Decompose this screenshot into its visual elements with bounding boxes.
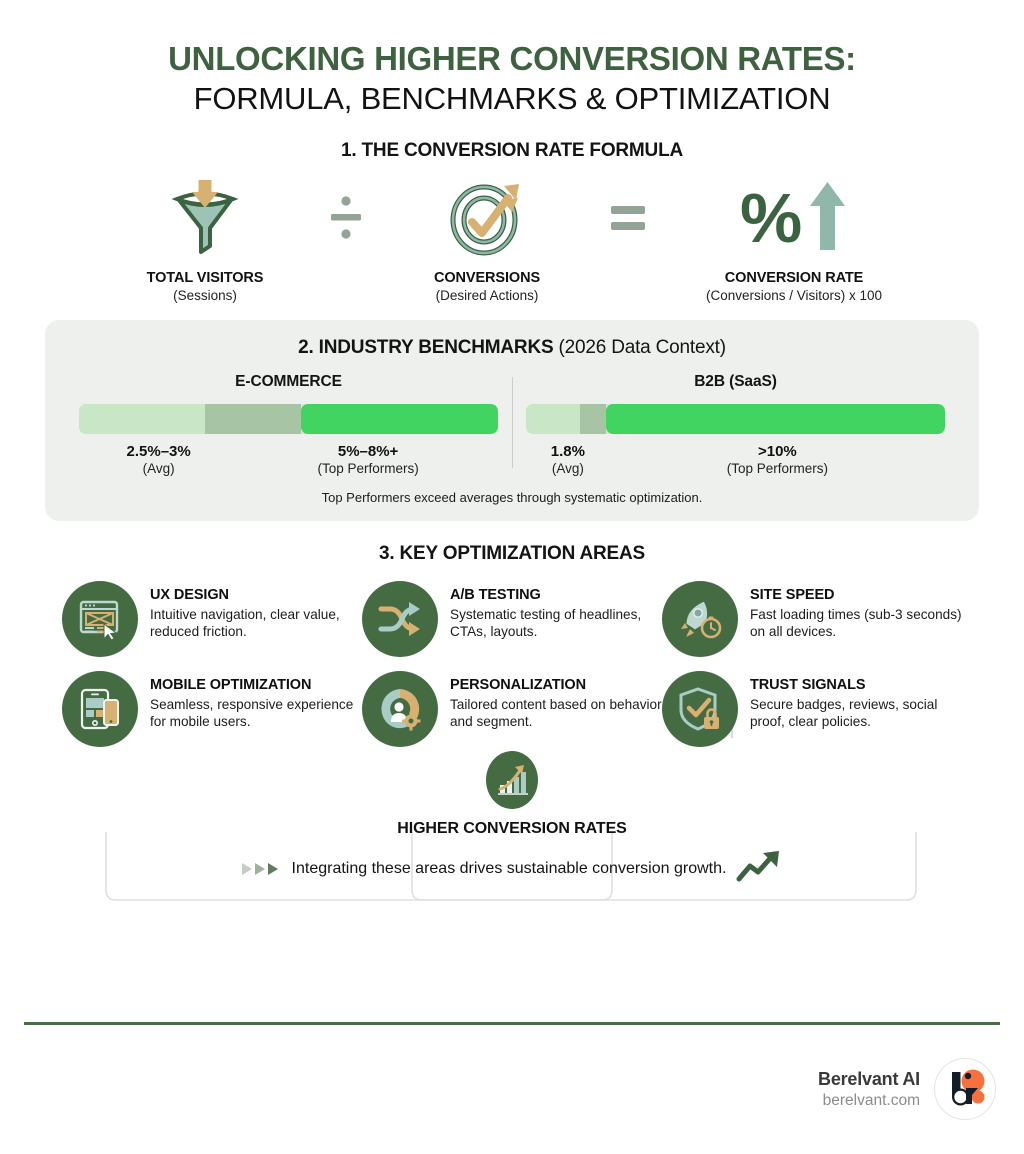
- benchmark-title: B2B (SaaS): [526, 373, 945, 391]
- triple-chevron-icon: [241, 862, 283, 876]
- benchmark-labels: 2.5%–3% (Avg) 5%–8%+ (Top Performers): [79, 443, 498, 476]
- benchmark-labels: 1.8% (Avg) >10% (Top Performers): [526, 443, 945, 476]
- footer-brand: Berelvant AI berelvant.com: [818, 1058, 996, 1120]
- optimization-desc: Seamless, responsive experience for mobi…: [150, 696, 362, 730]
- formula-label: CONVERSIONS: [382, 270, 592, 286]
- bar-segment-light: [526, 404, 580, 434]
- benchmark-footnote: Top Performers exceed averages through s…: [65, 490, 959, 505]
- benchmark-top-label: (Top Performers): [610, 461, 945, 476]
- formula-item-visitors: TOTAL VISITORS (Sessions): [100, 178, 310, 303]
- bar-segment-mid: [205, 404, 301, 434]
- outcome-block: HIGHER CONVERSION RATES Integrating thes…: [0, 751, 1024, 889]
- optimization-item-ab-testing[interactable]: A/B TESTING Systematic testing of headli…: [362, 581, 662, 657]
- formula-label: CONVERSION RATE: [664, 270, 924, 286]
- benchmark-title: E-COMMERCE: [79, 373, 498, 391]
- optimization-text: PERSONALIZATION Tailored content based o…: [450, 671, 662, 730]
- benchmarks-panel: 2. INDUSTRY BENCHMARKS (2026 Data Contex…: [45, 320, 979, 521]
- target-icon: [382, 178, 592, 258]
- optimization-text: A/B TESTING Systematic testing of headli…: [450, 581, 662, 640]
- funnel-icon: [100, 178, 310, 258]
- benchmark-top-value: >10%: [610, 443, 945, 460]
- bar-segment-light: [79, 404, 205, 434]
- berelvant-logo-icon: [934, 1058, 996, 1120]
- optimization-title: A/B TESTING: [450, 587, 662, 604]
- benchmark-bar-ecommerce: [79, 404, 498, 434]
- benchmark-avg: 2.5%–3% (Avg): [79, 443, 238, 476]
- section-3-heading-wrap: 3. KEY OPTIMIZATION AREAS: [0, 543, 1024, 565]
- section-2-heading-light: (2026 Data Context): [559, 337, 726, 358]
- percent-growth-icon: %: [664, 178, 924, 258]
- personalization-user-gear-icon: [362, 671, 438, 747]
- section-1-heading: 1. THE CONVERSION RATE FORMULA: [0, 140, 1024, 162]
- benchmark-top-value: 5%–8%+: [238, 443, 498, 460]
- brand-name: Berelvant AI: [818, 1069, 920, 1090]
- title-line-1: UNLOCKING HIGHER CONVERSION RATES:: [0, 40, 1024, 78]
- mobile-devices-icon: [62, 671, 138, 747]
- bar-segment-bright: [301, 404, 498, 434]
- brand-url[interactable]: berelvant.com: [818, 1092, 920, 1110]
- optimization-desc: Systematic testing of headlines, CTAs, l…: [450, 606, 662, 640]
- shield-lock-check-icon: [662, 671, 738, 747]
- benchmark-column-b2b: B2B (SaaS) 1.8% (Avg) >10% (Top Performe…: [512, 373, 959, 476]
- optimization-title: PERSONALIZATION: [450, 677, 662, 694]
- benchmark-avg: 1.8% (Avg): [526, 443, 610, 476]
- section-3-heading: 3. KEY OPTIMIZATION AREAS: [0, 543, 1024, 565]
- formula-row: TOTAL VISITORS (Sessions): [0, 178, 1024, 303]
- benchmark-top: >10% (Top Performers): [610, 443, 945, 476]
- divide-icon: [310, 178, 382, 258]
- rocket-stopwatch-icon: [662, 581, 738, 657]
- optimization-item-mobile-optimization[interactable]: MOBILE OPTIMIZATION Seamless, responsive…: [62, 671, 362, 747]
- infographic-page: UNLOCKING HIGHER CONVERSION RATES: FORMU…: [0, 0, 1024, 1154]
- optimization-title: UX DESIGN: [150, 587, 362, 604]
- optimization-desc: Tailored content based on behavior and s…: [450, 696, 662, 730]
- bar-segment-bright: [606, 404, 945, 434]
- formula-sub: (Sessions): [100, 288, 310, 303]
- page-title: UNLOCKING HIGHER CONVERSION RATES: FORMU…: [0, 0, 1024, 119]
- benchmark-bar-b2b: [526, 404, 945, 434]
- formula-item-conversions: CONVERSIONS (Desired Actions): [382, 178, 592, 303]
- optimization-grid: UX DESIGN Intuitive navigation, clear va…: [62, 581, 962, 747]
- tagline-row: Integrating these areas drives sustainab…: [0, 850, 1024, 889]
- benchmark-top-label: (Top Performers): [238, 461, 498, 476]
- benchmark-column-ecommerce: E-COMMERCE 2.5%–3% (Avg) 5%–8%+ (Top Per…: [65, 373, 512, 476]
- benchmark-avg-label: (Avg): [526, 461, 610, 476]
- optimization-text: TRUST SIGNALS Secure badges, reviews, so…: [750, 671, 962, 730]
- brand-text: Berelvant AI berelvant.com: [818, 1069, 920, 1110]
- optimization-item-personalization[interactable]: PERSONALIZATION Tailored content based o…: [362, 671, 662, 747]
- optimization-item-site-speed[interactable]: SITE SPEED Fast loading times (sub-3 sec…: [662, 581, 962, 657]
- formula-sub: (Conversions / Visitors) x 100: [664, 288, 924, 303]
- optimization-item-trust-signals[interactable]: TRUST SIGNALS Secure badges, reviews, so…: [662, 671, 962, 747]
- optimization-item-ux-design[interactable]: UX DESIGN Intuitive navigation, clear va…: [62, 581, 362, 657]
- optimization-title: MOBILE OPTIMIZATION: [150, 677, 362, 694]
- benchmark-avg-value: 1.8%: [526, 443, 610, 460]
- formula-section: 1. THE CONVERSION RATE FORMULA TOTAL VIS…: [0, 140, 1024, 303]
- benchmark-top: 5%–8%+ (Top Performers): [238, 443, 498, 476]
- column-divider: [512, 377, 513, 468]
- formula-item-rate: % CONVERSION RATE (Conversions / Visitor…: [664, 178, 924, 303]
- ux-wireframe-cursor-icon: [62, 581, 138, 657]
- optimization-title: SITE SPEED: [750, 587, 962, 604]
- optimization-desc: Fast loading times (sub-3 seconds) on al…: [750, 606, 962, 640]
- optimization-title: TRUST SIGNALS: [750, 677, 962, 694]
- optimization-text: SITE SPEED Fast loading times (sub-3 sec…: [750, 581, 962, 640]
- title-line-2: FORMULA, BENCHMARKS & OPTIMIZATION: [0, 80, 1024, 119]
- section-2-heading-bold: 2. INDUSTRY BENCHMARKS: [298, 337, 553, 358]
- benchmark-columns: E-COMMERCE 2.5%–3% (Avg) 5%–8%+ (Top Per…: [65, 373, 959, 476]
- optimization-desc: Intuitive navigation, clear value, reduc…: [150, 606, 362, 640]
- footer-divider: [24, 1022, 1000, 1025]
- benchmark-avg-value: 2.5%–3%: [79, 443, 238, 460]
- optimization-desc: Secure badges, reviews, social proof, cl…: [750, 696, 962, 730]
- bar-segment-mid: [580, 404, 605, 434]
- equals-icon: [592, 178, 664, 258]
- outcome-label: HIGHER CONVERSION RATES: [0, 820, 1024, 838]
- optimization-text: UX DESIGN Intuitive navigation, clear va…: [150, 581, 362, 640]
- tagline-text: Integrating these areas drives sustainab…: [292, 860, 727, 878]
- growth-chart-icon: [486, 751, 538, 809]
- formula-sub: (Desired Actions): [382, 288, 592, 303]
- ab-testing-shuffle-icon: [362, 581, 438, 657]
- formula-label: TOTAL VISITORS: [100, 270, 310, 286]
- svg-text:%: %: [740, 179, 802, 257]
- upward-trend-arrow-icon: [735, 850, 783, 889]
- section-2-heading: 2. INDUSTRY BENCHMARKS (2026 Data Contex…: [65, 337, 959, 359]
- benchmark-avg-label: (Avg): [79, 461, 238, 476]
- optimization-text: MOBILE OPTIMIZATION Seamless, responsive…: [150, 671, 362, 730]
